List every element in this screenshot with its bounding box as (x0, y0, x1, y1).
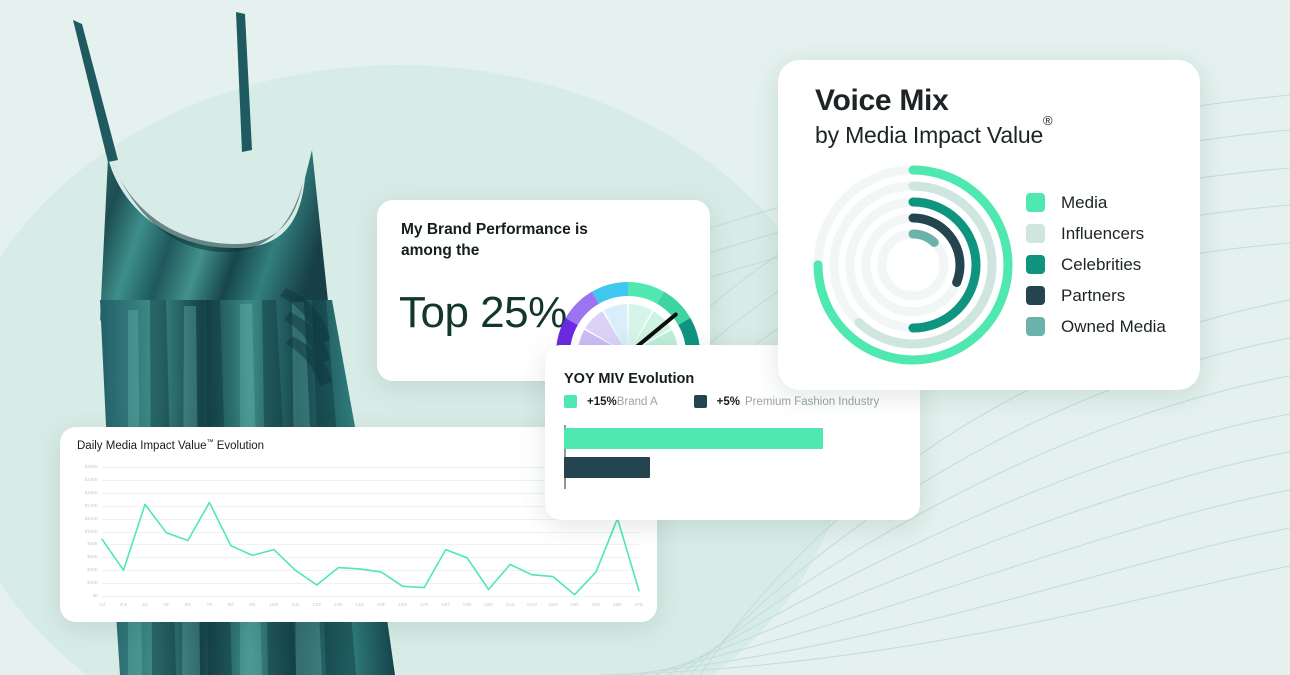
voice-mix-subtitle: by Media Impact Value® (815, 122, 1052, 149)
x-axis-label: 13th (327, 602, 349, 607)
voice-mix-legend: MediaInfluencersCelebritiesPartnersOwned… (1026, 187, 1201, 342)
yoy-legend: +15%Brand A+5%Premium Fashion Industry (564, 395, 879, 408)
x-axis-label: 12th (306, 602, 328, 607)
voice-legend-item[interactable]: Media (1026, 187, 1201, 218)
legend-swatch-owned-media (1026, 317, 1045, 336)
x-axis-label: 1st (91, 602, 113, 607)
yoy-legend-name: Brand A (617, 396, 658, 408)
x-axis-label: 25th (585, 602, 607, 607)
voice-legend-item[interactable]: Celebrities (1026, 249, 1201, 280)
yoy-bar-chart (564, 428, 899, 490)
gauge-segment-2 (592, 282, 628, 304)
x-axis-label: 7th (198, 602, 220, 607)
x-axis-label: 21st (499, 602, 521, 607)
yoy-legend-item[interactable]: +5%Premium Fashion Industry (694, 395, 880, 408)
x-axis-label: 2nd (112, 602, 134, 607)
daily-miv-title: Daily Media Impact Value™ Evolution (77, 439, 264, 452)
yoy-bar[interactable] (564, 428, 823, 449)
x-axis-label: 4th (134, 602, 156, 607)
registered-mark: ® (1043, 113, 1052, 128)
x-axis-label: 5th (155, 602, 177, 607)
x-axis-label: 20th (478, 602, 500, 607)
promo-stage: Daily Media Impact Value™ Evolution $0$2… (0, 0, 1290, 675)
x-axis-label: 17th (413, 602, 435, 607)
x-axis-label: 18th (435, 602, 457, 607)
brand-performance-headline: My Brand Performance is among the (401, 220, 631, 262)
x-axis-label: 9th (241, 602, 263, 607)
x-axis-label: 15th (370, 602, 392, 607)
x-axis-label: 19th (456, 602, 478, 607)
x-axis-label: 10th (263, 602, 285, 607)
voice-mix-radial-chart (808, 160, 1018, 370)
voice-legend-item[interactable]: Owned Media (1026, 311, 1201, 342)
legend-label: Media (1061, 193, 1107, 213)
voice-mix-card: Voice Mix by Media Impact Value® MediaIn… (778, 60, 1200, 390)
legend-swatch-partners (1026, 286, 1045, 305)
legend-label: Partners (1061, 286, 1125, 306)
x-axis-label: 24th (564, 602, 586, 607)
brand-performance-value: Top 25% (399, 288, 567, 338)
x-axis-label: 27th (628, 602, 650, 607)
x-axis-label: 22nd (521, 602, 543, 607)
legend-swatch-media (1026, 193, 1045, 212)
voice-legend-item[interactable]: Influencers (1026, 218, 1201, 249)
yoy-legend-percent: +15% (587, 396, 617, 408)
legend-label: Celebrities (1061, 255, 1141, 275)
x-axis-label: 26th (607, 602, 629, 607)
x-axis-label: 16th (392, 602, 414, 607)
x-axis-label: 23rd (542, 602, 564, 607)
voice-mix-title: Voice Mix (815, 84, 948, 118)
voice-legend-item[interactable]: Partners (1026, 280, 1201, 311)
yoy-legend-percent: +5% (717, 396, 740, 408)
yoy-title: YOY MIV Evolution (564, 371, 694, 387)
x-axis-label: 8th (220, 602, 242, 607)
legend-label: Influencers (1061, 224, 1144, 244)
yoy-legend-swatch (694, 395, 707, 408)
yoy-legend-item[interactable]: +15%Brand A (564, 395, 658, 408)
x-axis-label: 14th (349, 602, 371, 607)
legend-swatch-celebrities (1026, 255, 1045, 274)
yoy-legend-swatch (564, 395, 577, 408)
legend-swatch-influencers (1026, 224, 1045, 243)
yoy-bar[interactable] (564, 457, 650, 478)
yoy-legend-name: Premium Fashion Industry (745, 396, 879, 408)
x-axis-label: 6th (177, 602, 199, 607)
x-axis-label: 11th (284, 602, 306, 607)
gauge-segment-3 (628, 282, 664, 304)
legend-label: Owned Media (1061, 317, 1166, 337)
trademark-mark: ™ (207, 439, 214, 446)
